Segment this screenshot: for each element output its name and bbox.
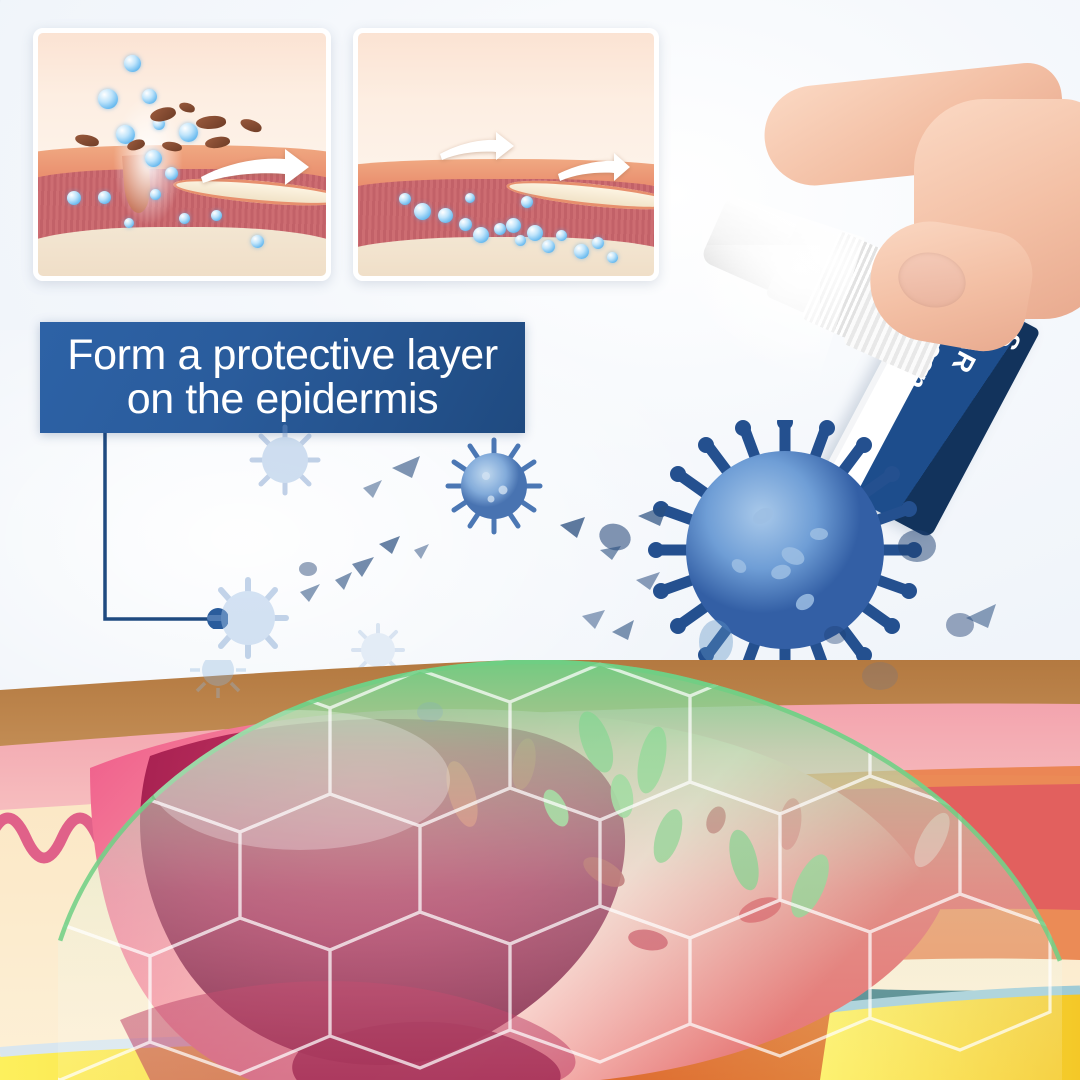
infographic-canvas: Timilk Glucon BAR S Form a protective la… [0,0,1080,1080]
callout-text: Form a protective layer on the epidermis [57,334,508,422]
flow-arrow-right-icon [556,152,632,183]
virus-large [648,420,922,686]
inset-photo-right [353,28,659,281]
flow-arrow-icon [199,147,311,189]
virus-small-2 [210,580,286,656]
virus-small-1 [252,427,318,493]
spray-mist-2 [680,245,820,365]
inset-photo-left [33,28,331,281]
flow-arrow-left-icon [438,130,516,162]
skin-cross-section [0,660,1080,1080]
callout-banner: Form a protective layer on the epidermis [40,322,525,433]
virus-medium [448,440,540,532]
